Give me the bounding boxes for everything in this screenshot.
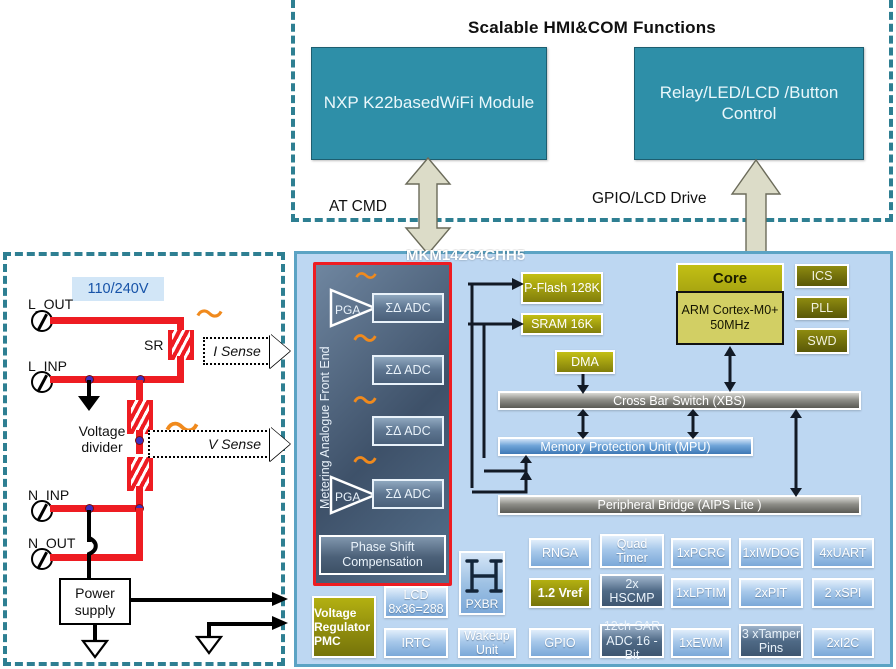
block-swd: SWD [795,328,849,354]
irtc-label: IRTC [402,636,431,650]
core-to-xbs-arrow-icon [723,345,737,393]
wire-n-vertical [136,508,143,558]
tile-i2c: 2xI2C [812,628,874,658]
uart-label: 4xUART [819,546,866,560]
v-sense-label: V Sense [208,436,261,452]
xbs-mpu-arrow-1-icon [576,409,590,439]
phase-shift-compensation-block: Phase Shift Compensation [319,535,446,575]
tile-sar-adc: 12ch SAR ADC 16 - Bit [600,624,664,658]
block-wifi-module[interactable]: NXP K22basedWiFi Module [311,47,547,160]
wire-ps-out-2 [207,622,279,626]
ground-symbol-ps [82,640,108,658]
adc-4-label: ΣΔ ADC [385,487,430,501]
pxbr-label: PXBR [461,597,503,611]
swd-label: SWD [807,334,836,348]
afe-wave-2-icon: 〜 [353,328,377,352]
i-sense-arrow: I Sense [203,334,290,368]
i2c-label: 2xI2C [827,636,860,650]
shunt-resistor-label: SR [144,337,163,353]
core-body: ARM Cortex-M0+ 50MHz [676,291,784,345]
mains-voltage-badge: 110/240V [72,277,164,301]
pga-1-text: PGA [335,303,360,317]
core-header-label: Core [713,270,747,287]
gpio-label: GPIO [544,636,575,650]
bus-cross-bar-switch: Cross Bar Switch (XBS) [498,391,861,410]
voltage-divider-label: Voltage divider [62,423,142,455]
sram-label: SRAM 16K [531,317,593,331]
tile-vref: 1.2 Vref [529,578,591,608]
xbs-label: Cross Bar Switch (XBS) [613,394,746,408]
tile-irtc: IRTC [384,628,448,658]
afe-wave-3-icon: 〜 [353,390,377,414]
block-p-flash: P-Flash 128K [521,272,603,304]
wire-l-inp [50,376,184,383]
core-body-label: ARM Cortex-M0+ 50MHz [678,303,782,333]
dma-to-xbs-arrow-icon [576,374,590,394]
rnga-label: RNGA [542,546,578,560]
pga-2-text: PGA [335,490,360,504]
block-dma: DMA [555,350,615,374]
tile-rnga: RNGA [529,538,591,568]
v-sense-arrow: V Sense [148,427,290,461]
relay-control-label: Relay/LED/LCD /Button Control [635,83,863,124]
block-sram: SRAM 16K [521,313,603,335]
at-cmd-label: AT CMD [329,198,387,216]
adc-channel-1: ΣΔ ADC [372,293,444,323]
tile-voltage-regulator: Voltage Regulator PMC [312,596,376,658]
power-supply-label: Power supply [61,585,129,617]
current-waveform-icon: 〜 [196,302,223,329]
tamper-pins-label: 3 xTamper Pins [741,627,801,656]
adc-channel-2: ΣΔ ADC [372,355,444,385]
aips-label: Peripheral Bridge (AIPS Lite ) [598,498,762,512]
tile-pcrc: 1xPCRC [671,538,731,568]
afe-bus-link-b [478,316,490,466]
hscmp-label: 2x HSCMP [602,577,662,606]
pcrc-label: 1xPCRC [677,546,726,560]
wire-n-inp [50,505,143,512]
tile-iwdog: 1xIWDOG [739,538,803,568]
core-header: Core [676,263,784,291]
tile-pit: 2xPIT [739,578,803,608]
sar-adc-label: 12ch SAR ADC 16 - Bit [602,619,662,662]
ps-out-arrow-2-icon [272,615,290,633]
tile-lcd: LCD 8x36=288 [384,586,448,618]
wakeup-unit-label: Wakeup Unit [460,629,514,658]
dma-label: DMA [571,355,599,369]
bus-peripheral-bridge: Peripheral Bridge (AIPS Lite ) [498,495,861,515]
wire-l-out-top [50,317,184,324]
adc-channel-3: ΣΔ ADC [372,416,444,446]
iwdog-label: 1xIWDOG [743,546,800,560]
p-flash-label: P-Flash 128K [524,281,600,295]
afe-wave-4-icon: 〜 [353,450,377,474]
tile-uart: 4xUART [812,538,874,568]
block-relay-control[interactable]: Relay/LED/LCD /Button Control [634,47,864,160]
spi-label: 2 xSPI [825,586,862,600]
wifi-module-label: NXP K22basedWiFi Module [324,93,534,114]
terminal-label-n-inp: N_INP [28,487,69,503]
switch-symbol [80,538,106,564]
wire-ps-feed-lower [87,560,91,580]
tile-quad-timer: Quad Timer [600,534,664,568]
quad-timer-label: Quad Timer [602,537,662,566]
at-cmd-double-arrow-icon [404,158,452,254]
tile-spi: 2 xSPI [812,578,874,608]
ics-label: ICS [812,269,833,283]
tile-lptim: 1xLPTIM [671,578,731,608]
ps-out-arrow-1-icon [272,591,290,609]
afe-bus-link-a [466,276,478,496]
mpu-label: Memory Protection Unit (MPU) [540,440,710,454]
tile-wakeup-unit: Wakeup Unit [458,628,516,658]
tile-gpio: GPIO [529,628,591,658]
ground-symbol-out [196,636,222,654]
pxbr-h-icon [461,553,507,597]
afe-to-mpu-arrow-2-icon [478,455,548,477]
block-pll: PLL [795,296,849,320]
afe-wave-1-icon: 〜 [355,266,377,288]
terminal-label-l-out: L_OUT [28,296,73,312]
power-supply-block: Power supply [59,578,131,625]
terminal-label-n-out: N_OUT [28,535,75,551]
gpio-lcd-label: GPIO/LCD Drive [592,190,707,208]
ground-symbol-l-inp [78,396,100,411]
lcd-label: LCD 8x36=288 [386,588,446,617]
pga-triangle-2-icon: PGA [329,475,377,515]
tile-tamper-pins: 3 xTamper Pins [739,624,803,658]
gpio-lcd-up-arrow-icon [730,160,782,256]
tile-ewm: 1xEWM [671,628,731,658]
adc-3-label: ΣΔ ADC [385,424,430,438]
hmi-section-title: Scalable HMI&COM Functions [291,18,893,38]
lptim-label: 1xLPTIM [676,586,726,600]
wire-ps-out-1 [131,598,279,602]
adc-2-label: ΣΔ ADC [385,363,430,377]
ewm-label: 1xEWM [679,636,723,650]
pga-triangle-1-icon: PGA [329,288,377,328]
vref-label: 1.2 Vref [538,586,582,600]
xbs-aips-arrow-icon [789,409,803,497]
block-ics: ICS [795,264,849,288]
pll-label: PLL [811,301,833,315]
adc-1-label: ΣΔ ADC [385,301,430,315]
tile-hscmp: 2x HSCMP [600,574,664,608]
tile-pxbr: PXBR [459,551,505,615]
i-sense-label: I Sense [213,343,260,359]
bus-memory-protection-unit: Memory Protection Unit (MPU) [498,437,753,456]
xbs-mpu-arrow-2-icon [686,409,700,439]
pit-label: 2xPIT [755,586,788,600]
adc-channel-4: ΣΔ ADC [372,479,444,509]
voltage-regulator-label: Voltage Regulator PMC [314,606,374,648]
phase-shift-label: Phase Shift Compensation [321,540,444,570]
